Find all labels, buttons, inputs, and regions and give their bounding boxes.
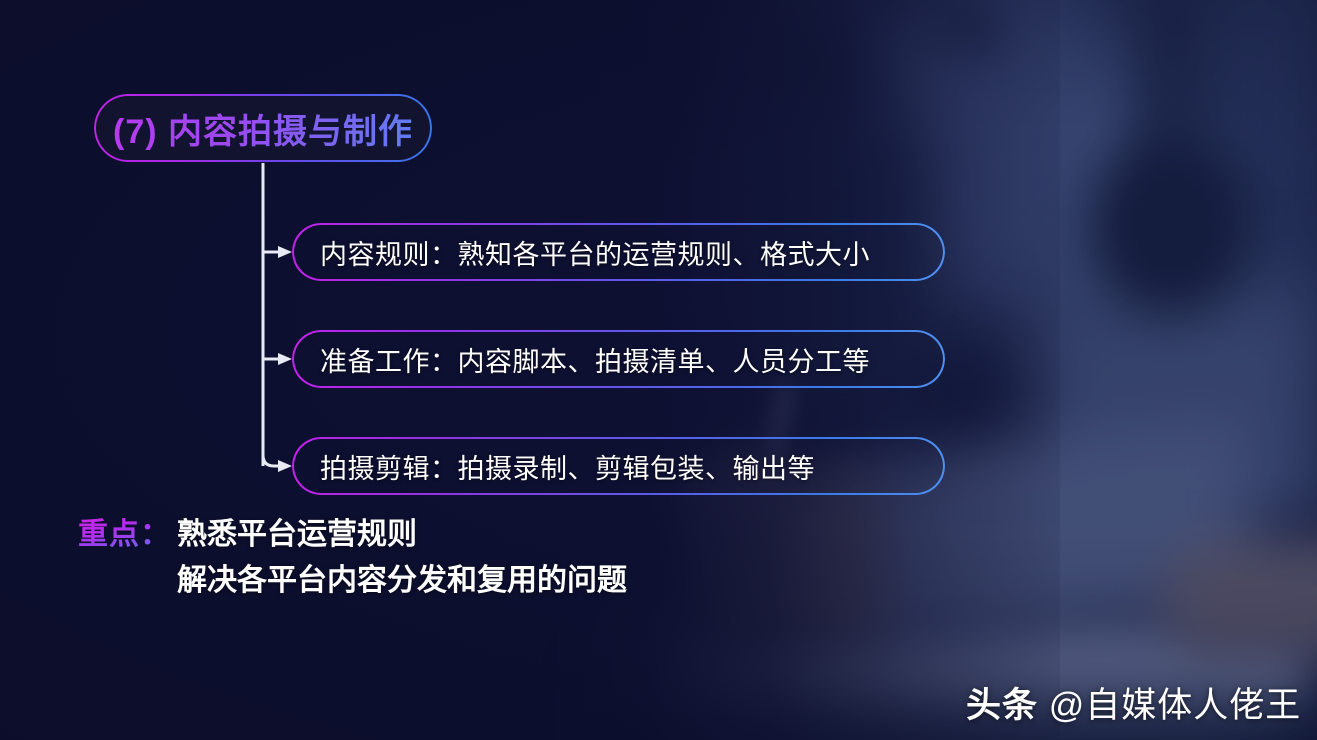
key-points-lines: 熟悉平台运营规则 解决各平台内容分发和复用的问题 bbox=[177, 512, 627, 604]
key-point-line-1: 熟悉平台运营规则 bbox=[177, 512, 627, 558]
content-item-1-label: 内容规则：熟知各平台的运营规则、格式大小 bbox=[320, 233, 870, 272]
slide-title-pill: (7) 内容拍摄与制作 bbox=[94, 94, 432, 162]
watermark-brand: 头条 bbox=[966, 686, 1038, 725]
presentation-slide: (7) 内容拍摄与制作 内容规则：熟知各平台的运营规则、格式大小 准备工作：内容… bbox=[0, 0, 1317, 740]
key-points-label: 重点： bbox=[78, 512, 171, 558]
content-item-1: 内容规则：熟知各平台的运营规则、格式大小 bbox=[292, 223, 945, 281]
content-item-3: 拍摄剪辑：拍摄录制、剪辑包装、输出等 bbox=[292, 437, 945, 495]
content-item-2-label: 准备工作：内容脚本、拍摄清单、人员分工等 bbox=[320, 340, 870, 379]
content-item-3-label: 拍摄剪辑：拍摄录制、剪辑包装、输出等 bbox=[320, 447, 815, 486]
watermark-handle: @自媒体人佬王 bbox=[1049, 686, 1302, 725]
key-points-block: 重点： 熟悉平台运营规则 解决各平台内容分发和复用的问题 bbox=[78, 512, 627, 604]
key-point-line-2: 解决各平台内容分发和复用的问题 bbox=[177, 558, 627, 604]
watermark: 头条 @自媒体人佬王 bbox=[966, 677, 1301, 728]
content-item-2: 准备工作：内容脚本、拍摄清单、人员分工等 bbox=[292, 330, 945, 388]
page-title: (7) 内容拍摄与制作 bbox=[113, 104, 413, 153]
